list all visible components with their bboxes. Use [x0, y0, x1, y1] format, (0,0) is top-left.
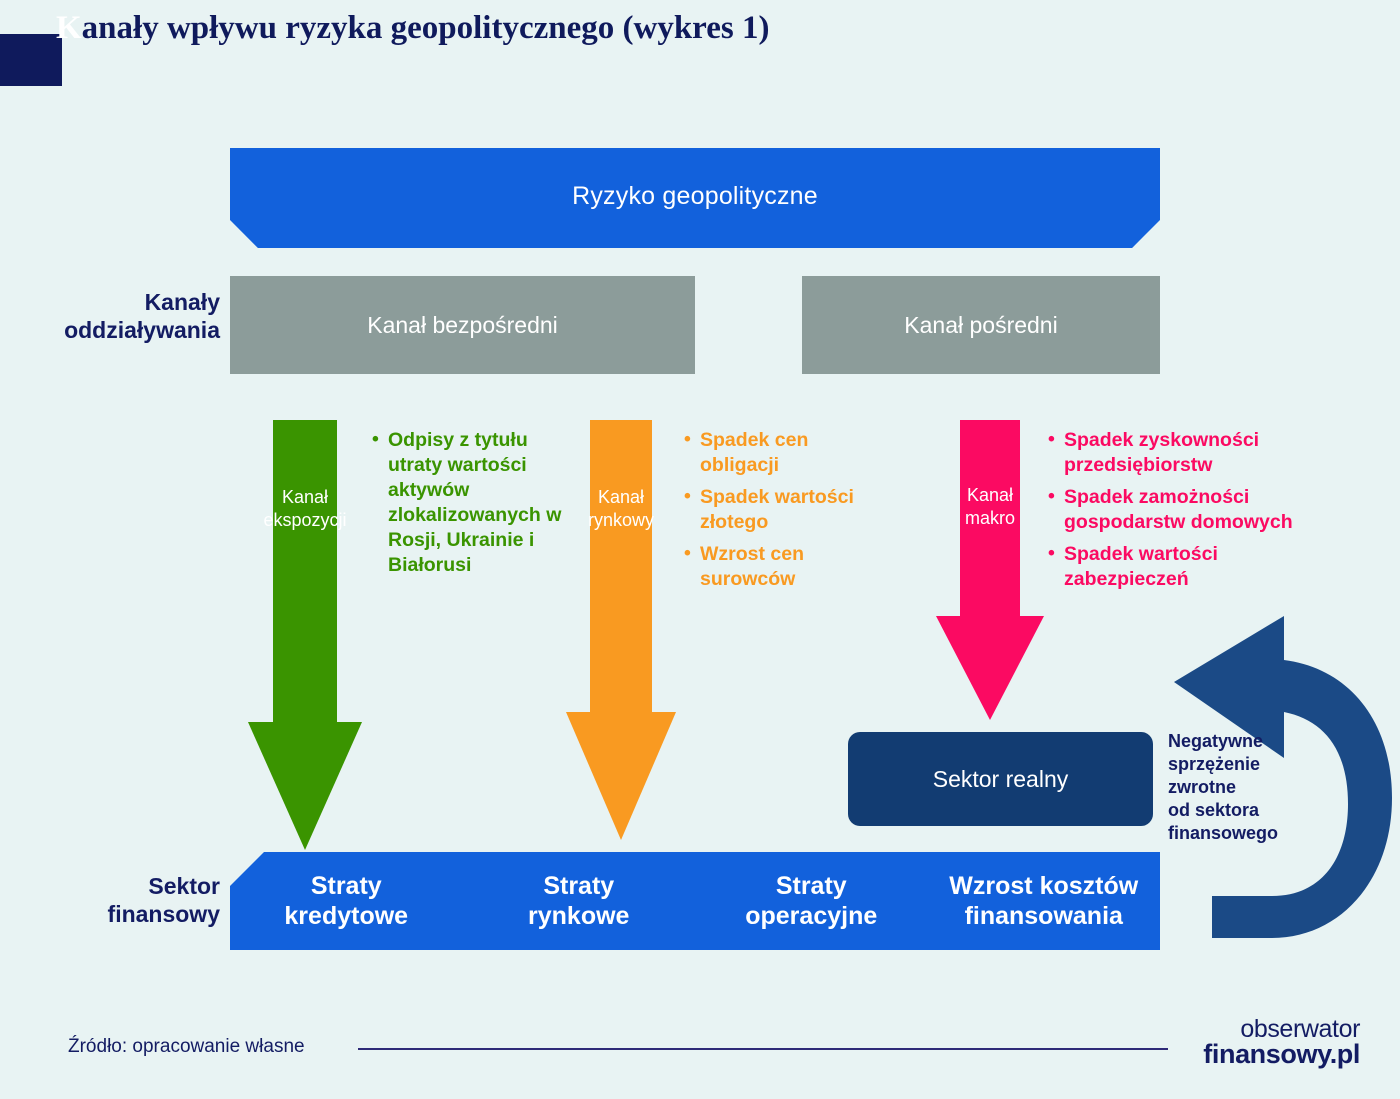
loss-cell-market: Stratyrynkowe [463, 871, 696, 931]
loss-cell-operational: Stratyoperacyjne [695, 871, 928, 931]
list-item: Spadek wartości zabezpieczeń [1048, 542, 1320, 592]
logo-line-2: finansowy.pl [1203, 1042, 1360, 1068]
list-item: Wzrost cen surowców [684, 542, 864, 592]
list-item: Spadek cen obligacji [684, 428, 864, 478]
direct-channel-label: Kanał bezpośredni [367, 312, 558, 339]
infographic-canvas: Kanały wpływu ryzyka geopolitycznego (wy… [0, 0, 1400, 1099]
list-item: Spadek wartości złotego [684, 485, 864, 535]
financial-sector-side-label: Sektorfinansowy [20, 872, 220, 928]
direct-channel-box: Kanał bezpośredni [230, 276, 695, 374]
indirect-channel-label: Kanał pośredni [904, 312, 1057, 339]
geopolitical-risk-label: Ryzyko geopolityczne [572, 182, 818, 211]
loss-cell-funding-cost: Wzrost kosztówfinansowania [928, 871, 1161, 931]
list-item: Spadek zamożności gospodarstw domowych [1048, 485, 1320, 535]
obserwator-finansowy-logo: obserwator finansowy.pl [1203, 1018, 1360, 1067]
channels-side-label: Kanałyoddziaływania [20, 288, 220, 344]
feedback-loop-label: Negatywnesprzężeniezwrotneod sektorafina… [1168, 730, 1318, 845]
market-channel-arrow: Kanałrynkowy [566, 420, 676, 840]
market-arrow-shaft [590, 420, 652, 712]
list-item: Odpisy z tytułu utraty wartości aktywów … [372, 428, 564, 578]
exposure-arrow-shaft [273, 420, 337, 722]
market-bullet-list: Spadek cen obligacji Spadek wartości zło… [684, 428, 864, 599]
macro-channel-arrow: Kanałmakro [936, 420, 1044, 720]
macro-bullet-list: Spadek zyskowności przedsiębiorstw Spade… [1048, 428, 1320, 599]
exposure-bullet-list: Odpisy z tytułu utraty wartości aktywów … [372, 428, 564, 585]
macro-arrow-label: Kanałmakro [936, 484, 1044, 529]
exposure-channel-arrow: Kanałekspozycji [248, 420, 362, 850]
real-sector-label: Sektor realny [933, 766, 1069, 793]
indirect-channel-box: Kanał pośredni [802, 276, 1160, 374]
title-cap-letter: K [56, 10, 82, 47]
footer-divider [358, 1048, 1168, 1050]
macro-arrow-head [936, 616, 1044, 720]
page-title: Kanały wpływu ryzyka geopolitycznego (wy… [56, 0, 769, 56]
market-arrow-head [566, 712, 676, 840]
exposure-arrow-label: Kanałekspozycji [248, 486, 362, 531]
financial-sector-bar: Stratykredytowe Stratyrynkowe Stratyoper… [230, 852, 1160, 950]
real-sector-box: Sektor realny [848, 732, 1153, 826]
loss-cell-credit: Stratykredytowe [230, 871, 463, 931]
geopolitical-risk-banner: Ryzyko geopolityczne [230, 148, 1160, 248]
title-rest: anały wpływu ryzyka geopolitycznego (wyk… [82, 10, 770, 47]
exposure-arrow-head [248, 722, 362, 850]
title-accent-block [0, 32, 62, 88]
source-note: Źródło: opracowanie własne [68, 1036, 305, 1058]
list-item: Spadek zyskowności przedsiębiorstw [1048, 428, 1320, 478]
market-arrow-label: Kanałrynkowy [566, 486, 676, 531]
